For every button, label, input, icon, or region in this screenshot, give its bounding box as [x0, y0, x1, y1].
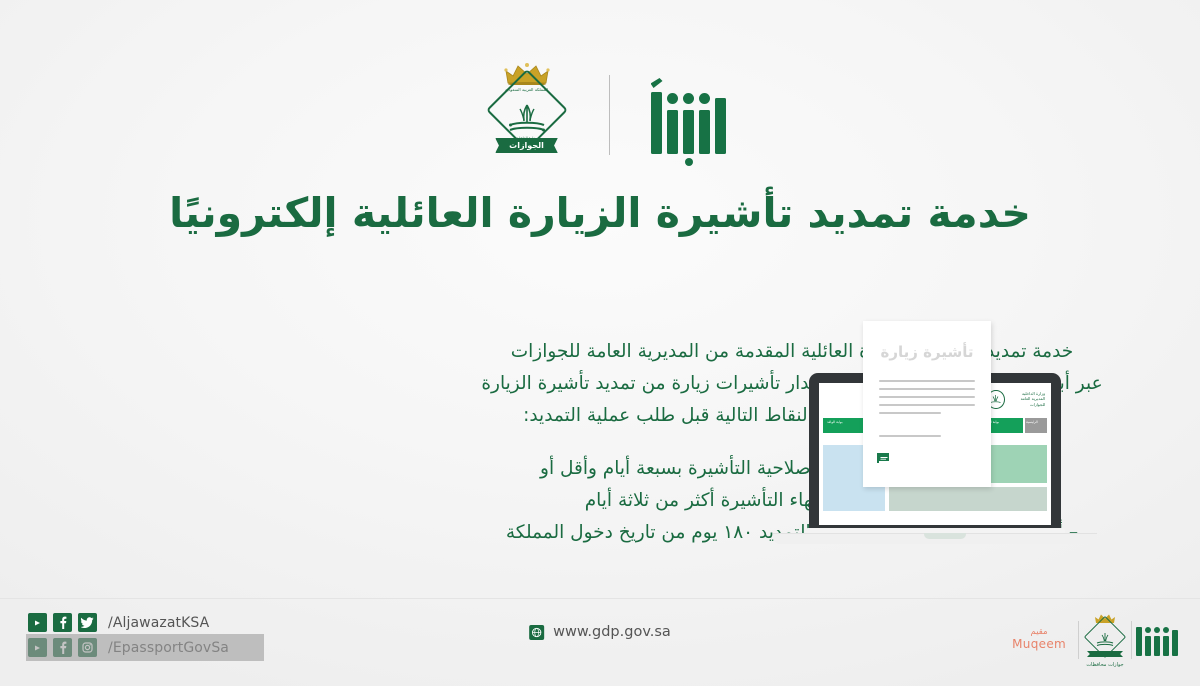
- gdp-passports-emblem-icon: المملكة العربية السعودية وزارة الداخلية …: [475, 65, 579, 165]
- emblem-ribbon: [1087, 651, 1123, 657]
- globe-icon: [529, 625, 544, 640]
- ministry-line-2: المديرية العامة للجوازات: [1008, 396, 1045, 406]
- visa-document-title: تأشيرة زيارة: [873, 343, 981, 361]
- infographic-canvas: المملكة العربية السعودية وزارة الداخلية …: [0, 0, 1200, 686]
- facebook-icon[interactable]: [53, 613, 72, 632]
- muqeem-label-en: Muqeem: [1012, 638, 1066, 652]
- laptop-visa-illustration: وزارة الداخلية المديرية العامة للجوازات …: [765, 290, 1125, 570]
- emblem-top-text: المملكة العربية السعودية: [505, 87, 548, 92]
- social-handle-aljawazat[interactable]: /AljawazatKSA: [108, 615, 209, 631]
- muqeem-logo-icon: مقيم Muqeem: [1000, 628, 1078, 652]
- website-url[interactable]: www.gdp.gov.sa: [553, 624, 671, 640]
- social-row-aljawazat[interactable]: /AljawazatKSA: [28, 613, 229, 632]
- emblem-ribbon-label: الجوازات: [495, 138, 558, 153]
- emblem-branches-label: جوازات محافظات: [1086, 662, 1123, 668]
- saudi-flag-icon: [877, 449, 890, 461]
- ministry-logo-icon: وزارة الداخلية المديرية العامة للجوازات: [987, 387, 1045, 411]
- footer-partner-logos: مقيم Muqeem جوازات محافظات: [1000, 613, 1178, 667]
- absher-logo-icon: [640, 76, 726, 154]
- visa-document: تأشيرة زيارة: [863, 321, 991, 487]
- social-row-epassport[interactable]: /EpassportGovSa: [28, 638, 229, 657]
- emblem-palm-swords-icon: [506, 99, 548, 139]
- twitter-icon[interactable]: [78, 613, 97, 632]
- laptop-trackpad-notch: [924, 533, 966, 539]
- logo-divider: [609, 75, 610, 155]
- youtube-icon[interactable]: [28, 613, 47, 632]
- footer: /AljawazatKSA: [0, 599, 1200, 686]
- absher-logo-icon: [1132, 620, 1178, 660]
- blur-overlay: [26, 634, 264, 661]
- screen-panel-gray: [889, 487, 1047, 511]
- page-title: خدمة تمديد تأشيرة الزيارة العائلية إلكتر…: [0, 186, 1200, 241]
- passports-branches-emblem-icon: جوازات محافظات: [1079, 613, 1131, 667]
- screen-home-button: الرئيسية: [1025, 418, 1047, 433]
- footer-website-link[interactable]: www.gdp.gov.sa: [529, 624, 671, 640]
- header-logo-bar: المملكة العربية السعودية وزارة الداخلية …: [0, 60, 1200, 170]
- emblem-palm-swords-icon: [1095, 631, 1115, 653]
- screen-home-label: الرئيسية: [1026, 420, 1038, 424]
- social-links: /AljawazatKSA: [28, 613, 229, 663]
- screen-nav-left-label: بوابة الوافد: [827, 420, 843, 424]
